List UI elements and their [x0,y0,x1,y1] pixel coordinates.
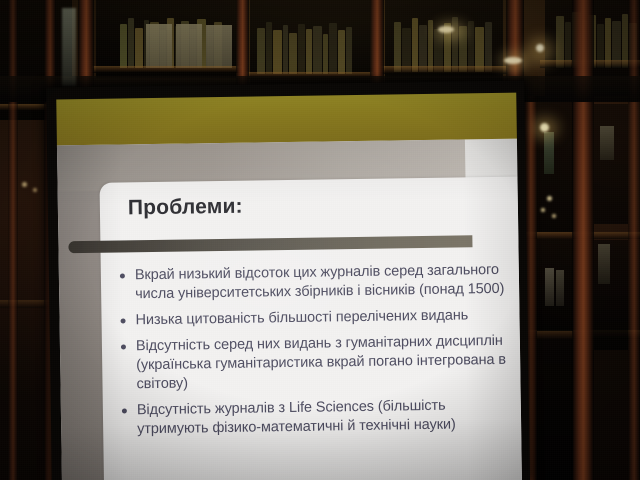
shelf-item [544,132,554,174]
list-item: Низька цитованість більшості перелічених… [115,306,509,331]
book-spines [556,4,638,68]
archive-box [206,25,232,68]
shelf-item [545,268,554,306]
book-spines [256,18,356,74]
light-glint [552,214,556,218]
presentation-slide: Проблеми: Вкрай низький відсоток цих жур… [57,139,522,480]
light-glint [33,188,37,192]
cabinet-stile [628,0,640,480]
slide-title: Проблеми: [128,195,243,221]
list-item: Відсутність журналів з Life Sciences (бі… [117,396,512,440]
slide-title-rule [68,235,472,253]
light-glint [22,182,27,187]
glass-cabinet-pane [537,339,573,480]
shelf-edge [92,66,242,73]
cabinet-stile [572,0,594,480]
glass-cabinet-pane [594,104,628,224]
light-sliver [62,8,76,86]
shelf-edge [380,66,508,74]
light-glint [438,26,454,33]
light-glint [536,44,544,52]
list-item: Вкрай низький відсоток цих журналів сере… [115,261,510,305]
archive-box [146,24,172,68]
shelf-item [600,126,614,160]
light-glint [540,123,549,132]
slide-bullet-list: Вкрай низький відсоток цих журналів сере… [115,261,512,447]
book-spines [392,10,496,72]
light-glint [541,208,545,212]
light-glint [547,196,552,201]
photograph: Проблеми: Вкрай низький відсоток цих жур… [0,0,640,480]
light-glint [504,57,522,64]
shelf-item [556,270,564,306]
list-item: Відсутність серед них видань з гуманітар… [116,332,511,395]
shelf-item [598,244,610,284]
slide-content-card: Проблеми: Вкрай низький відсоток цих жур… [100,177,522,480]
cabinet-stile [8,0,18,480]
glass-cabinet-pane [537,239,573,331]
archive-box [176,24,202,68]
projection-screen: Проблеми: Вкрай низький відсоток цих жур… [46,80,530,480]
